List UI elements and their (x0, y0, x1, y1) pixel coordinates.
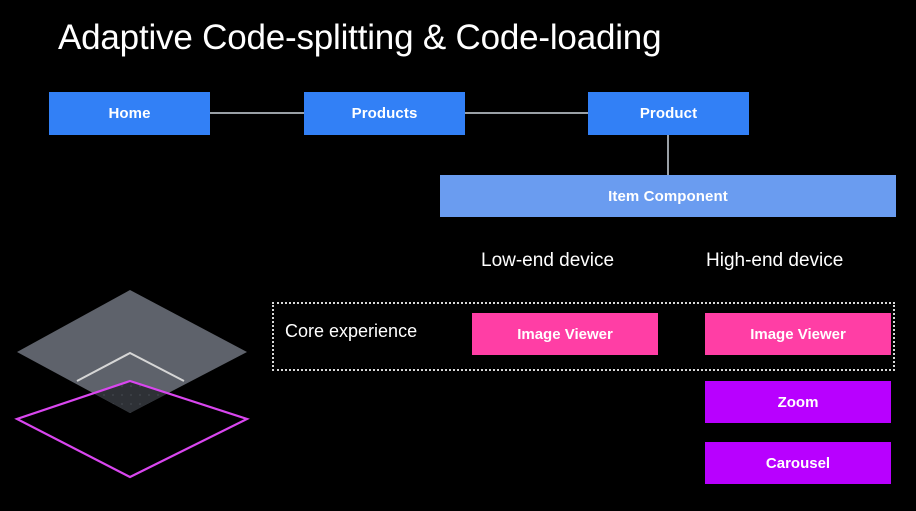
connector-home-to-products (210, 112, 304, 114)
flow-node-products[interactable]: Products (304, 92, 465, 135)
column-header-high-end-device: High-end device (706, 250, 843, 272)
core-experience-label: Core experience (285, 321, 417, 342)
layered-diamonds-illustration (12, 285, 262, 485)
page-title: Adaptive Code-splitting & Code-loading (58, 18, 661, 58)
feature-box-image-viewer-low-end[interactable]: Image Viewer (472, 313, 658, 355)
feature-box-zoom[interactable]: Zoom (705, 381, 891, 423)
presentation-slide: Adaptive Code-splitting & Code-loading H… (0, 0, 916, 511)
flow-node-home[interactable]: Home (49, 92, 210, 135)
flow-node-item-component[interactable]: Item Component (440, 175, 896, 217)
feature-box-carousel[interactable]: Carousel (705, 442, 891, 484)
column-header-low-end-device: Low-end device (481, 250, 614, 272)
feature-box-image-viewer-high-end[interactable]: Image Viewer (705, 313, 891, 355)
flow-node-product[interactable]: Product (588, 92, 749, 135)
connector-products-to-product (465, 112, 588, 114)
connector-product-to-item-component (667, 135, 669, 176)
